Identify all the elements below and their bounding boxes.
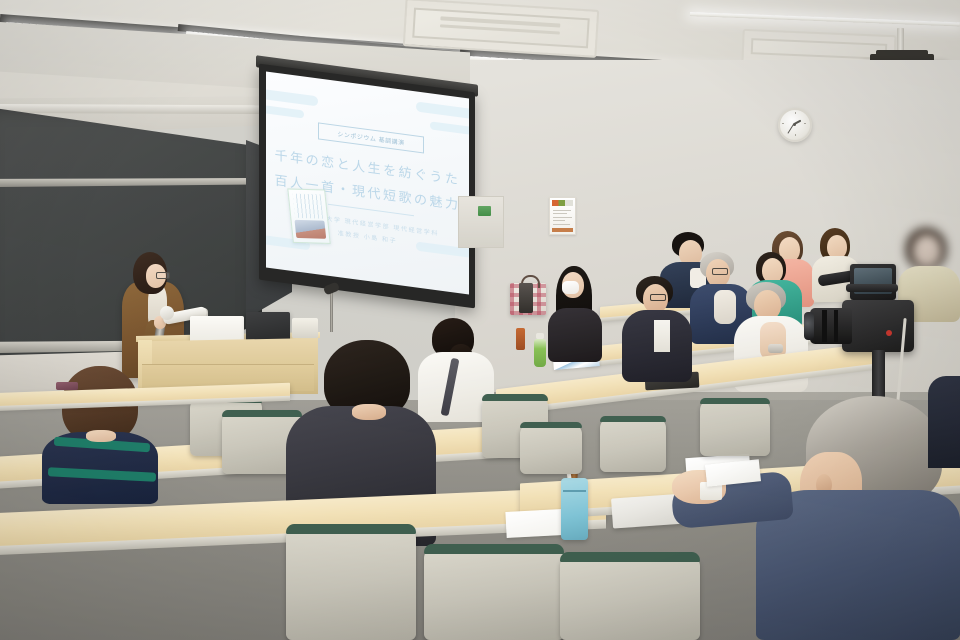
chair[interactable]: [286, 528, 416, 640]
slide-decoration-cloud: [266, 87, 318, 106]
dress-shirt-collar: [654, 320, 670, 352]
slide-decoration-cloud: [266, 104, 304, 118]
chair[interactable]: [700, 400, 770, 456]
clasped-hands: [714, 290, 736, 324]
dark-tumbler: [519, 283, 533, 313]
chair-trim: [286, 524, 416, 534]
chair-trim: [600, 416, 666, 422]
green-tea-bottle: [534, 339, 546, 367]
small-book: [56, 382, 78, 390]
wristwatch-icon: [768, 344, 783, 353]
projection-screen: シンポジウム 基調講演 千年の恋と人生を紡ぐうた 百人一首・現代短歌の魅力 東洋…: [266, 71, 469, 294]
neck: [86, 430, 116, 442]
chair-trim: [520, 422, 582, 428]
wall-notice-poster: [549, 197, 576, 235]
podium-control-device[interactable]: [292, 318, 318, 338]
neck: [352, 404, 386, 420]
side-door-panel: [458, 196, 504, 248]
chair[interactable]: [560, 556, 700, 640]
chair[interactable]: [424, 548, 564, 640]
camera-lens: [810, 308, 852, 344]
light-blue-pencil-case[interactable]: [561, 478, 588, 540]
slide-event-label: シンポジウム 基調講演: [318, 122, 424, 153]
face-mask-icon: [562, 281, 579, 294]
camera-record-indicator: [886, 330, 892, 336]
camera-focus-ring[interactable]: [822, 310, 827, 342]
brown-drink-bottle: [516, 328, 525, 350]
chair-trim: [700, 398, 770, 404]
camera-top-handle[interactable]: [846, 284, 898, 292]
slide-decoration-cloud: [416, 101, 469, 121]
chair-trim: [424, 544, 564, 554]
glasses-icon: [650, 294, 666, 301]
chair[interactable]: [600, 418, 666, 472]
torso: [928, 376, 960, 468]
glasses-icon: [712, 268, 728, 275]
lecture-hall-photo: シンポジウム 基調講演 千年の恋と人生を紡ぐうた 百人一首・現代短歌の魅力 東洋…: [0, 0, 960, 640]
camera-zoom-ring[interactable]: [834, 310, 838, 342]
wall-clock: [778, 108, 812, 142]
document-camera-head: [160, 306, 174, 320]
bottle-cap-icon: [536, 333, 544, 339]
chair-trim: [222, 410, 302, 417]
gooseneck-microphone-stand: [330, 288, 333, 332]
slide-decoration-cloud: [430, 121, 469, 136]
chalkboard-frame: [0, 104, 264, 114]
camera-lens-front-element: [804, 312, 814, 340]
chair-trim: [482, 394, 548, 401]
glasses-icon: [156, 272, 170, 279]
slide-karuta-card-image: [287, 188, 330, 244]
emergency-exit-sign: [478, 206, 491, 216]
chair-trim: [560, 552, 700, 562]
chair[interactable]: [520, 424, 582, 474]
